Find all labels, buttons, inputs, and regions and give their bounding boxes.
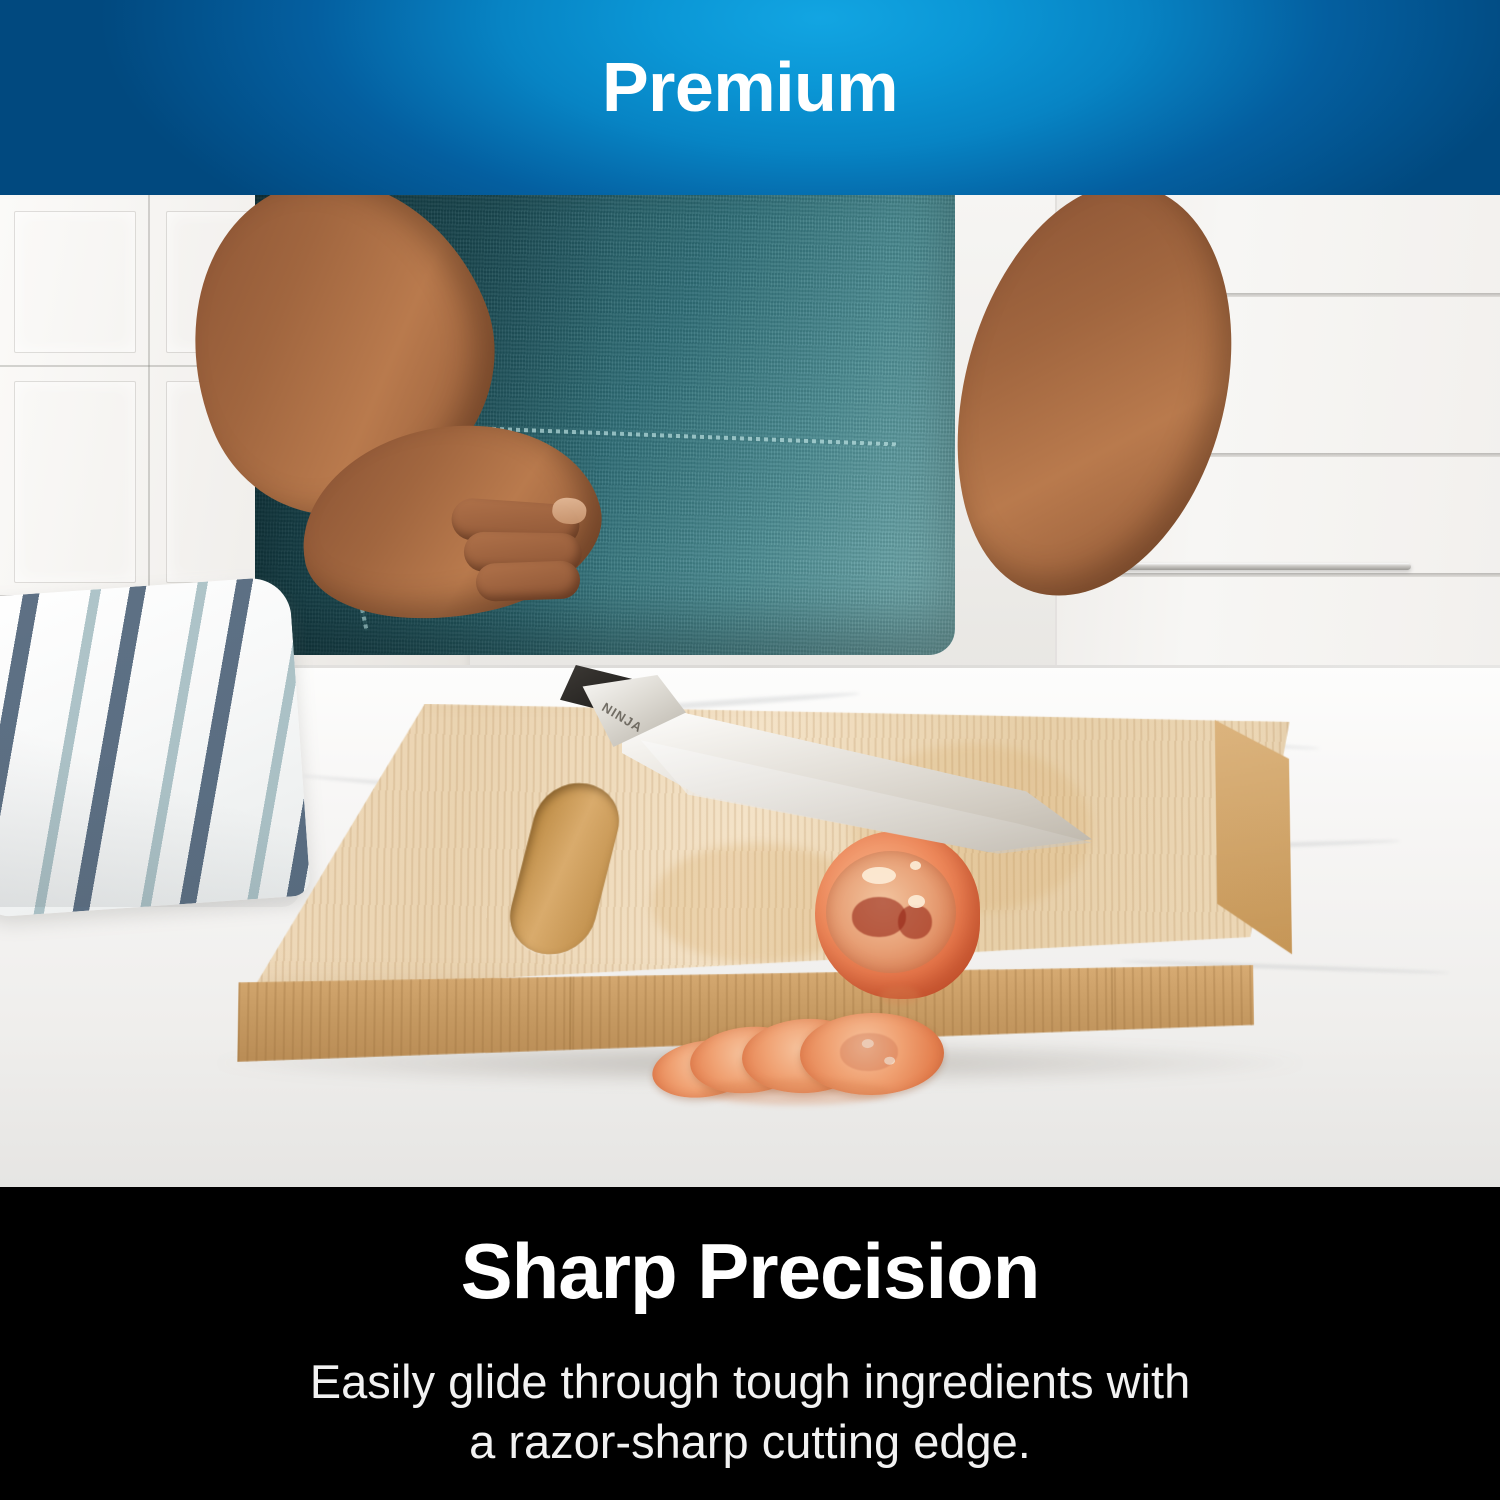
cabinet-panel [14,211,136,353]
feature-subtitle: Easily glide through tough ingredients w… [0,1352,1500,1472]
product-feature-card: Premium [0,0,1500,1500]
tomato-pulp [840,1033,899,1072]
cabinet-panel [14,381,136,583]
product-photo: NINJA [0,195,1500,1187]
banner-title: Premium [0,52,1500,122]
drawer-gap [1065,573,1500,577]
tomato-juice [700,1079,890,1105]
drawer-handle[interactable] [1111,563,1411,570]
finger [475,560,580,602]
feature-subtitle-line1: Easily glide through tough ingredients w… [0,1352,1500,1412]
feature-headline: Sharp Precision [0,1232,1500,1310]
premium-banner: Premium [0,0,1500,195]
chef-knife: NINJA [560,665,1120,995]
feature-subtitle-line2: a razor-sharp cutting edge. [0,1412,1500,1472]
board-right-edge [1215,720,1293,999]
